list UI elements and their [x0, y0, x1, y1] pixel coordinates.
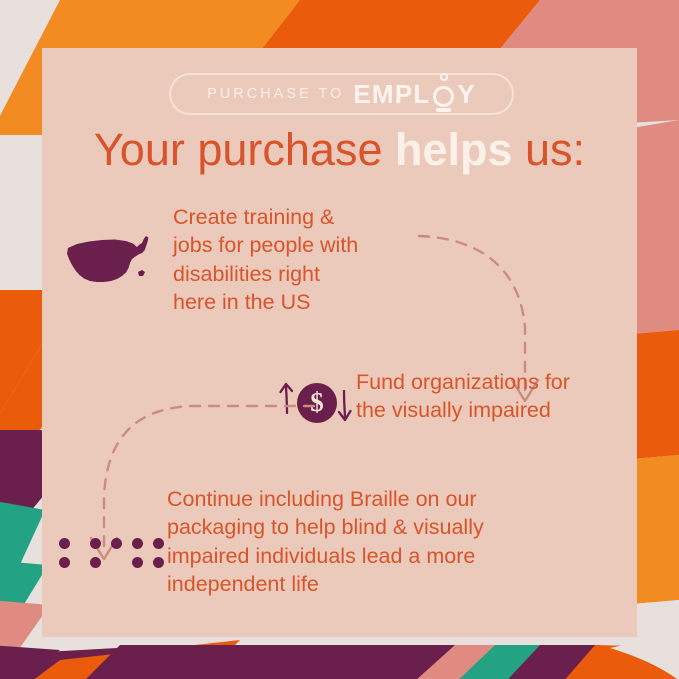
- braille-dot: [153, 557, 164, 568]
- braille-column: [106, 538, 127, 568]
- money-down-arrow-icon: [336, 389, 352, 423]
- logo-brand-wordmark: EMPL Y: [353, 81, 476, 107]
- braille-dot: [90, 557, 101, 568]
- braille-dot: [59, 538, 70, 549]
- us-map-icon: [63, 233, 158, 289]
- brand-logo-inner: PURCHASE TO EMPL Y: [171, 75, 512, 113]
- logo-brand-after-o: Y: [457, 81, 476, 107]
- logo-prefix-text: PURCHASE TO: [207, 86, 344, 102]
- braille-dot: [59, 557, 70, 568]
- content-card: PURCHASE TO EMPL Y Your purchase helps u…: [42, 48, 637, 637]
- logo-brand-before-o: EMPL: [353, 81, 430, 107]
- braille-column: [54, 538, 75, 568]
- benefit-text-training: Create training & jobs for people with d…: [173, 203, 423, 317]
- braille-column: [148, 538, 169, 568]
- person-o-ring: [433, 86, 454, 107]
- braille-dot-empty: [111, 557, 122, 568]
- dollar-sign-glyph: $: [310, 389, 324, 416]
- braille-dot: [132, 557, 143, 568]
- braille-dots-icon: [54, 538, 169, 578]
- brand-logo-pill: PURCHASE TO EMPL Y: [169, 73, 514, 115]
- person-o-icon: [431, 81, 456, 107]
- page-title: Your purchase helps us:: [42, 127, 637, 172]
- braille-dot: [132, 538, 143, 549]
- braille-dot: [153, 538, 164, 549]
- dollar-coin-circle: $: [297, 383, 337, 423]
- braille-dot: [111, 538, 122, 549]
- braille-cell-1: [54, 538, 75, 568]
- money-up-arrow-icon: [279, 381, 295, 415]
- headline-part-1: Your purchase: [94, 124, 395, 175]
- headline-part-3: us:: [513, 124, 586, 175]
- braille-cell-2: [85, 538, 169, 568]
- promo-graphic: PURCHASE TO EMPL Y Your purchase helps u…: [0, 0, 679, 679]
- benefit-text-fund: Fund organizations for the visually impa…: [356, 368, 626, 425]
- headline-part-2: helps: [395, 124, 513, 175]
- braille-column: [85, 538, 106, 568]
- braille-column: [127, 538, 148, 568]
- dollar-coin-icon: $: [279, 375, 349, 431]
- person-o-head: [440, 73, 448, 81]
- person-o-base: [436, 108, 451, 112]
- braille-dot: [90, 538, 101, 549]
- benefit-text-braille: Continue including Braille on our packag…: [167, 485, 567, 599]
